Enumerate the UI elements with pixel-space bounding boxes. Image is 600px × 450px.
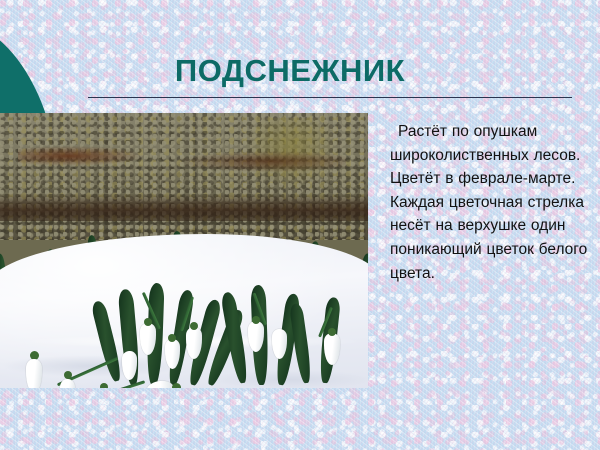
page-title: ПОДСНЕЖНИК [0,52,580,90]
snowdrop-main-clump [0,113,368,388]
snowdrop-photo [0,113,368,388]
title-divider [88,97,572,98]
slide-body-text: Растёт по опушкам широколиственных лесов… [380,120,588,285]
photo-content [0,113,368,388]
presentation-slide: ПОДСНЕЖНИК [0,0,600,450]
